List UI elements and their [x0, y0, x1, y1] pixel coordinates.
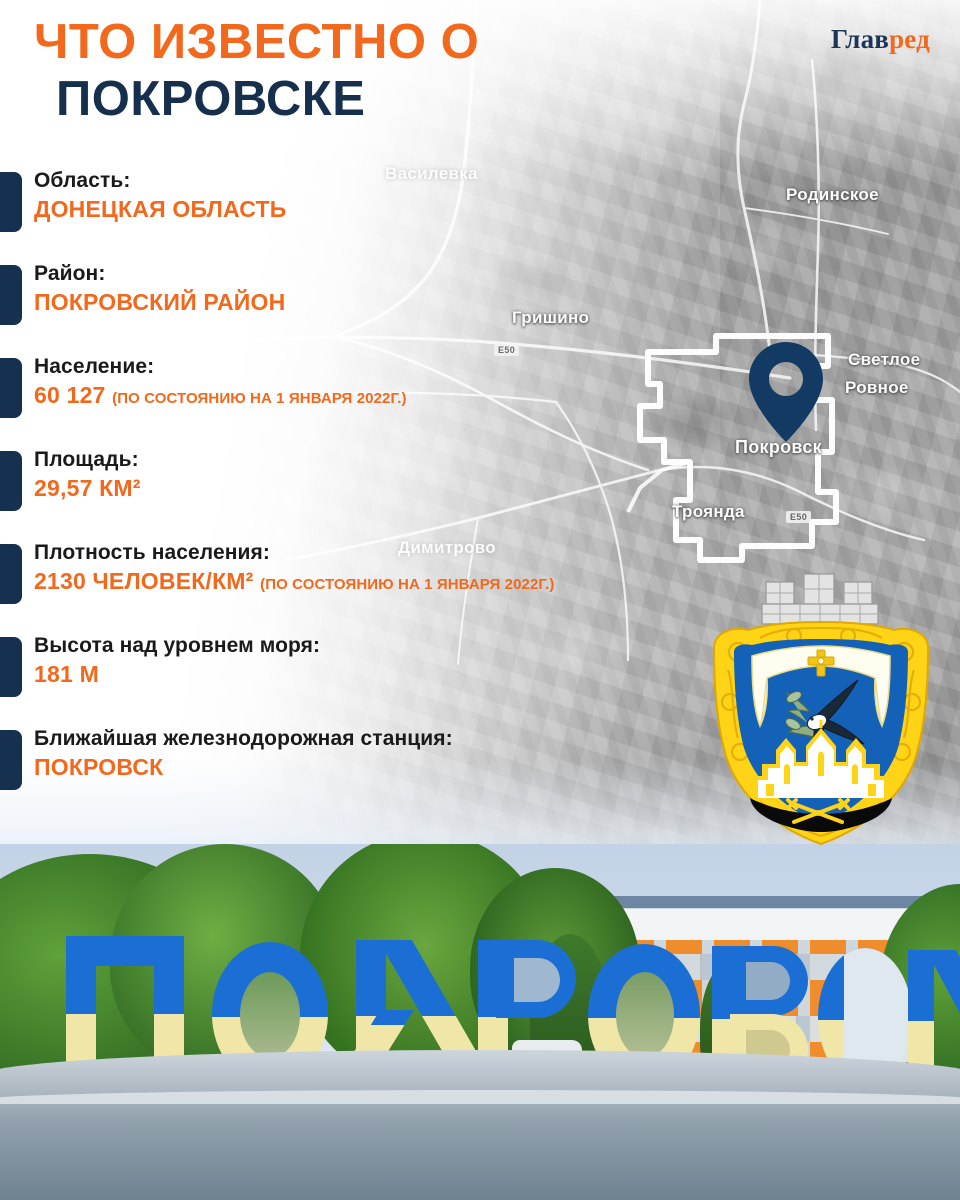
plinth-top-edge: [0, 1090, 960, 1104]
fact-label: Плотность населения:: [34, 540, 760, 566]
fact-label: Ближайшая железнодорожная станция:: [34, 726, 760, 752]
facts-list: Область: ДОНЕЦКАЯ ОБЛАСТЬ Район: ПОКРОВС…: [0, 168, 760, 819]
fact-item-density: Плотность населения: 2130 ЧЕЛОВЕК/КМ² (П…: [0, 540, 760, 633]
fact-value: 181 М: [34, 659, 760, 689]
fact-value-text: ПОКРОВСК: [34, 754, 163, 780]
fact-label: Площадь:: [34, 447, 760, 473]
map-label-rodinskoe: Родинское: [786, 185, 879, 205]
fact-value-text: 2130 ЧЕЛОВЕК/КМ²: [34, 568, 254, 594]
fact-value: ПОКРОВСКИЙ РАЙОН: [34, 287, 760, 317]
road-shield-e50-south: E50: [786, 511, 811, 523]
fact-value: 60 127 (ПО СОСТОЯНИЮ НА 1 ЯНВАРЯ 2022Г.): [34, 380, 760, 414]
fact-bullet-bar: [0, 544, 22, 604]
fact-bullet-bar: [0, 358, 22, 418]
fact-label: Район:: [34, 261, 760, 287]
infographic-poster: Василевка Родинское Гришино Светлое Ровн…: [0, 0, 960, 1200]
fact-bullet-bar: [0, 265, 22, 325]
brand-logo-part2: ред: [889, 24, 930, 54]
page-title: ЧТО ИЗВЕСТНО О ПОКРОВСКЕ: [34, 14, 479, 128]
fact-value-text: 60 127: [34, 382, 106, 408]
fact-value: ПОКРОВСК: [34, 752, 760, 782]
fact-label: Высота над уровнем моря:: [34, 633, 760, 659]
map-label-svetloe: Светлое: [848, 350, 920, 370]
fact-bullet-bar: [0, 172, 22, 232]
brand-logo[interactable]: Главред: [831, 24, 930, 55]
fact-value: ДОНЕЦКАЯ ОБЛАСТЬ: [34, 194, 760, 224]
map-label-rovnoe: Ровное: [845, 378, 909, 398]
coat-of-arms-icon: [690, 552, 952, 852]
fact-value-text: 181 М: [34, 661, 99, 687]
fact-item-oblast: Область: ДОНЕЦКАЯ ОБЛАСТЬ: [0, 168, 760, 261]
fact-item-area: Площадь: 29,57 КМ²: [0, 447, 760, 540]
fact-item-rayon: Район: ПОКРОВСКИЙ РАЙОН: [0, 261, 760, 354]
fact-label: Область:: [34, 168, 760, 194]
fact-bullet-bar: [0, 451, 22, 511]
fact-item-railway-station: Ближайшая железнодорожная станция: ПОКРО…: [0, 726, 760, 819]
fact-bullet-bar: [0, 637, 22, 697]
fact-bullet-bar: [0, 730, 22, 790]
fact-item-population: Население: 60 127 (ПО СОСТОЯНИЮ НА 1 ЯНВ…: [0, 354, 760, 447]
fact-value-text: 29,57 КМ²: [34, 475, 141, 501]
concrete-plinth: [0, 1050, 960, 1200]
fact-value: 2130 ЧЕЛОВЕК/КМ² (ПО СОСТОЯНИЮ НА 1 ЯНВА…: [34, 566, 760, 600]
title-line-1: ЧТО ИЗВЕСТНО О: [34, 14, 479, 71]
pokrovsk-city-sign-photo: [0, 844, 960, 1200]
fact-item-elevation: Высота над уровнем моря: 181 М: [0, 633, 760, 726]
fact-value-text: ДОНЕЦКАЯ ОБЛАСТЬ: [34, 196, 286, 222]
fact-value-note: (ПО СОСТОЯНИЮ НА 1 ЯНВАРЯ 2022Г.): [112, 390, 406, 407]
brand-logo-part1: Глав: [831, 24, 889, 54]
title-line-2: ПОКРОВСКЕ: [34, 71, 479, 128]
fact-value: 29,57 КМ²: [34, 473, 760, 503]
fact-value-note: (ПО СОСТОЯНИЮ НА 1 ЯНВАРЯ 2022Г.): [260, 576, 554, 593]
fact-label: Население:: [34, 354, 760, 380]
fact-value-text: ПОКРОВСКИЙ РАЙОН: [34, 289, 285, 315]
